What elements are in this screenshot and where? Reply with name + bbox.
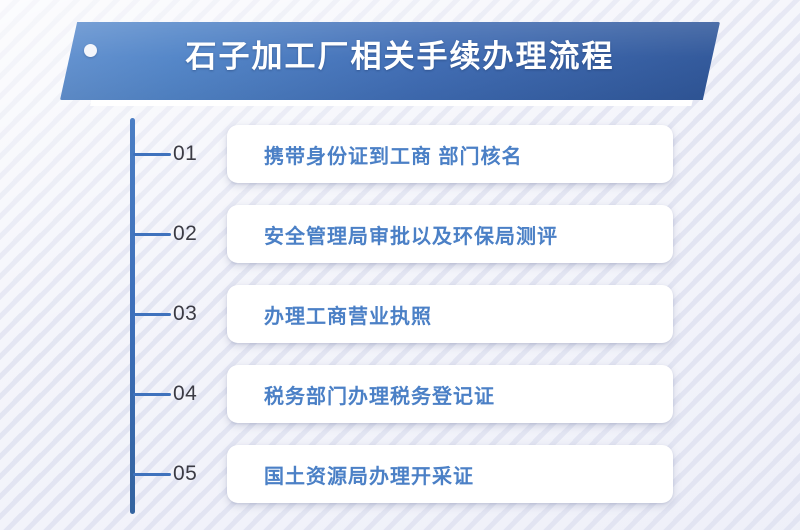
step-number: 04 xyxy=(173,354,215,434)
timeline-step-row[interactable]: 04 税务部门办理税务登记证 xyxy=(0,354,800,434)
header-banner: 石子加工厂相关手续办理流程 xyxy=(0,14,800,114)
timeline-step-row[interactable]: 02 安全管理局审批以及环保局测评 xyxy=(0,194,800,274)
step-number: 02 xyxy=(173,194,215,274)
step-label: 安全管理局审批以及环保局测评 xyxy=(227,220,558,249)
timeline-step-row[interactable]: 05 国土资源局办理开采证 xyxy=(0,434,800,514)
timeline-step-row[interactable]: 03 办理工商营业执照 xyxy=(0,274,800,354)
step-label: 携带身份证到工商 部门核名 xyxy=(227,140,523,169)
step-number: 05 xyxy=(173,434,215,514)
step-card[interactable]: 安全管理局审批以及环保局测评 xyxy=(227,205,673,263)
step-label: 税务部门办理税务登记证 xyxy=(227,380,495,409)
step-label: 办理工商营业执照 xyxy=(227,300,432,329)
infographic-poster: 石子加工厂相关手续办理流程 01 携带身份证到工商 部门核名 02 安全管理局审… xyxy=(0,0,800,530)
timeline-step-row[interactable]: 01 携带身份证到工商 部门核名 xyxy=(0,114,800,194)
step-label: 国土资源局办理开采证 xyxy=(227,460,474,489)
step-card[interactable]: 携带身份证到工商 部门核名 xyxy=(227,125,673,183)
timeline-steps: 01 携带身份证到工商 部门核名 02 安全管理局审批以及环保局测评 03 办理… xyxy=(0,114,800,514)
timeline-tick-icon xyxy=(133,473,171,476)
page-title: 石子加工厂相关手续办理流程 xyxy=(0,14,800,92)
timeline-tick-icon xyxy=(133,393,171,396)
timeline-tick-icon xyxy=(133,233,171,236)
timeline-tick-icon xyxy=(133,153,171,156)
step-card[interactable]: 国土资源局办理开采证 xyxy=(227,445,673,503)
step-card[interactable]: 办理工商营业执照 xyxy=(227,285,673,343)
step-number: 01 xyxy=(173,114,215,194)
step-card[interactable]: 税务部门办理税务登记证 xyxy=(227,365,673,423)
step-number: 03 xyxy=(173,274,215,354)
timeline-tick-icon xyxy=(133,313,171,316)
